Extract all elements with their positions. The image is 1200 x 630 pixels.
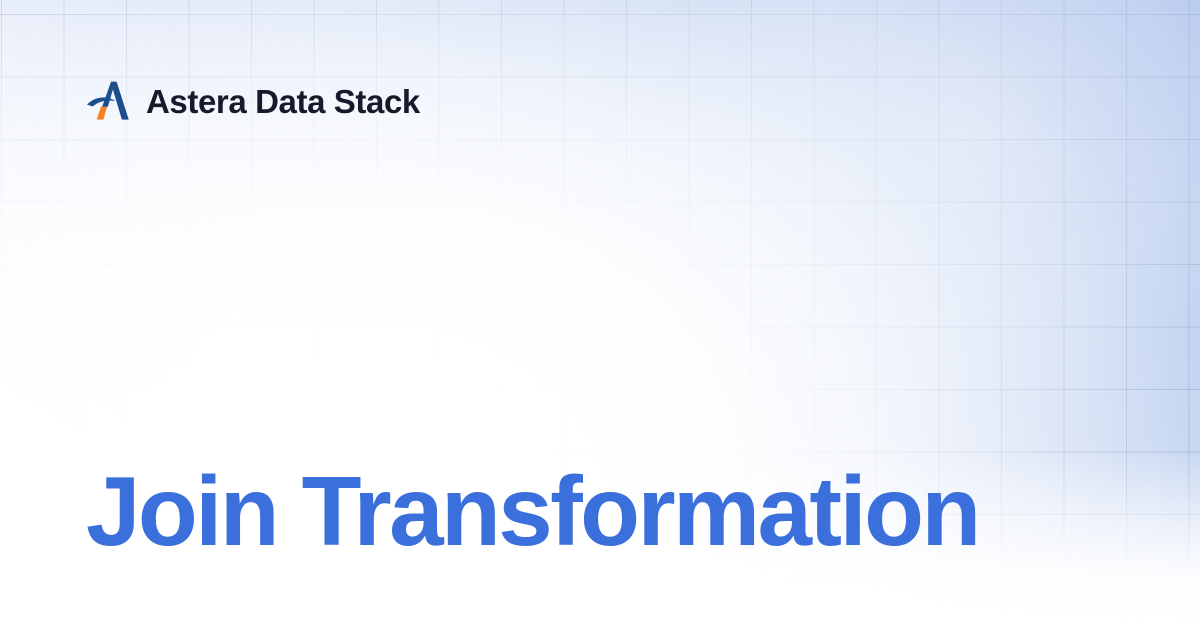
card-content: Astera Data Stack Join Transformation: [0, 0, 1200, 630]
brand-name: Astera Data Stack: [146, 85, 420, 118]
astera-a-logo-icon: [86, 78, 132, 124]
og-card: Astera Data Stack Join Transformation: [0, 0, 1200, 630]
brand-lockup: Astera Data Stack: [86, 78, 420, 124]
page-title: Join Transformation: [86, 460, 979, 564]
